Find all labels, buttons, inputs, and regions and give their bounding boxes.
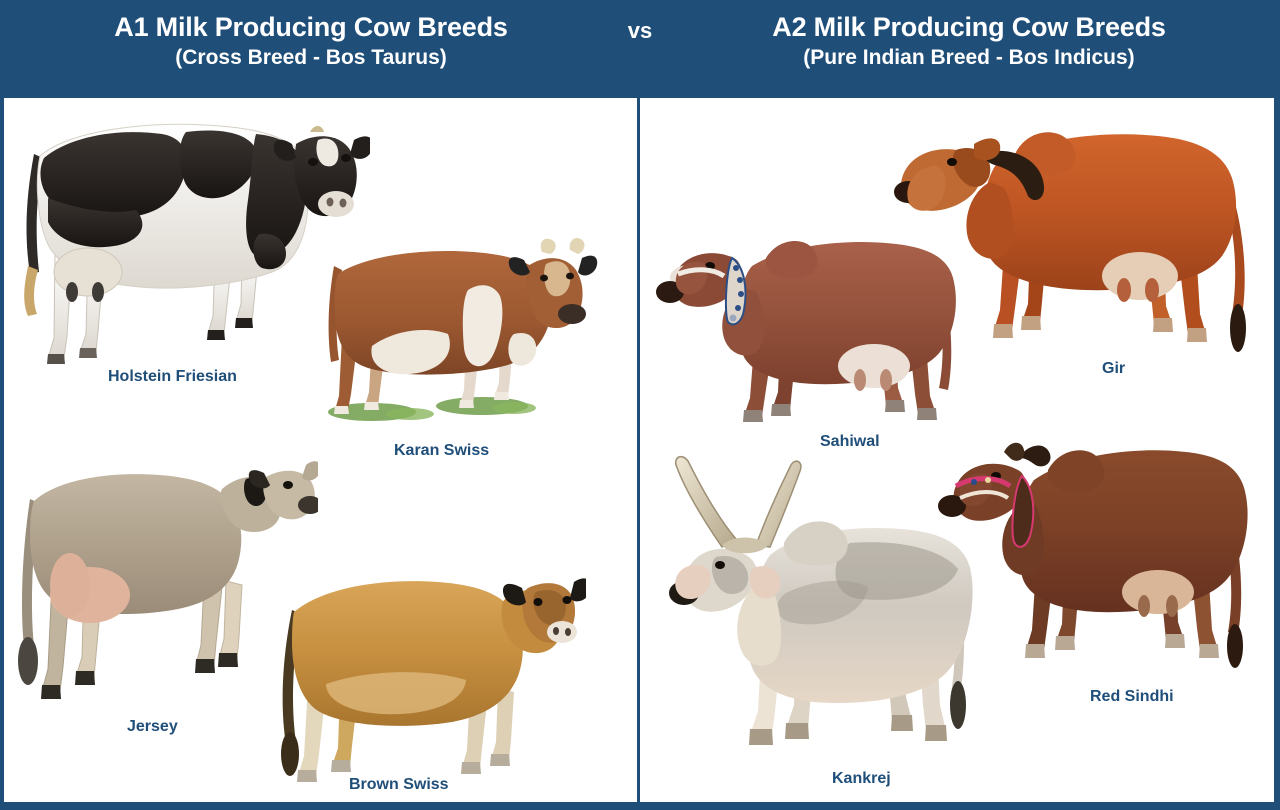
breed-label-jersey: Jersey (127, 718, 178, 736)
panels-container: Holstein Friesian (4, 98, 1274, 802)
breed-label-kankrej: Kankrej (832, 770, 891, 788)
header-right-column: A2 Milk Producing Cow Breeds (Pure India… (685, 0, 1253, 72)
header-bar: A1 Milk Producing Cow Breeds (Cross Bree… (0, 0, 1280, 98)
breed-label-gir: Gir (1102, 360, 1125, 378)
header-left-column: A1 Milk Producing Cow Breeds (Cross Bree… (27, 0, 595, 72)
header-right-title: A2 Milk Producing Cow Breeds (685, 10, 1253, 44)
cow-brown-swiss-icon (266, 558, 586, 798)
panel-a2-breeds: Gir (640, 98, 1274, 802)
header-left-subtitle: (Cross Breed - Bos Taurus) (27, 44, 595, 72)
header-left-title: A1 Milk Producing Cow Breeds (27, 10, 595, 44)
breed-label-sahiwal: Sahiwal (820, 433, 880, 451)
panel-a1-breeds: Holstein Friesian (4, 98, 637, 802)
breed-label-brown-swiss: Brown Swiss (349, 776, 449, 794)
header-right-subtitle: (Pure Indian Breed - Bos Indicus) (685, 44, 1253, 72)
breed-label-red-sindhi: Red Sindhi (1090, 688, 1174, 706)
versus-label: vs (595, 0, 685, 44)
breed-label-karan-swiss: Karan Swiss (394, 442, 489, 460)
infographic-root: A1 Milk Producing Cow Breeds (Cross Bree… (0, 0, 1280, 810)
cow-sahiwal-icon (648, 218, 978, 458)
breed-label-holstein-friesian: Holstein Friesian (108, 368, 237, 386)
cow-kankrej-icon (650, 443, 1000, 788)
cow-karan-swiss-icon (314, 230, 599, 440)
